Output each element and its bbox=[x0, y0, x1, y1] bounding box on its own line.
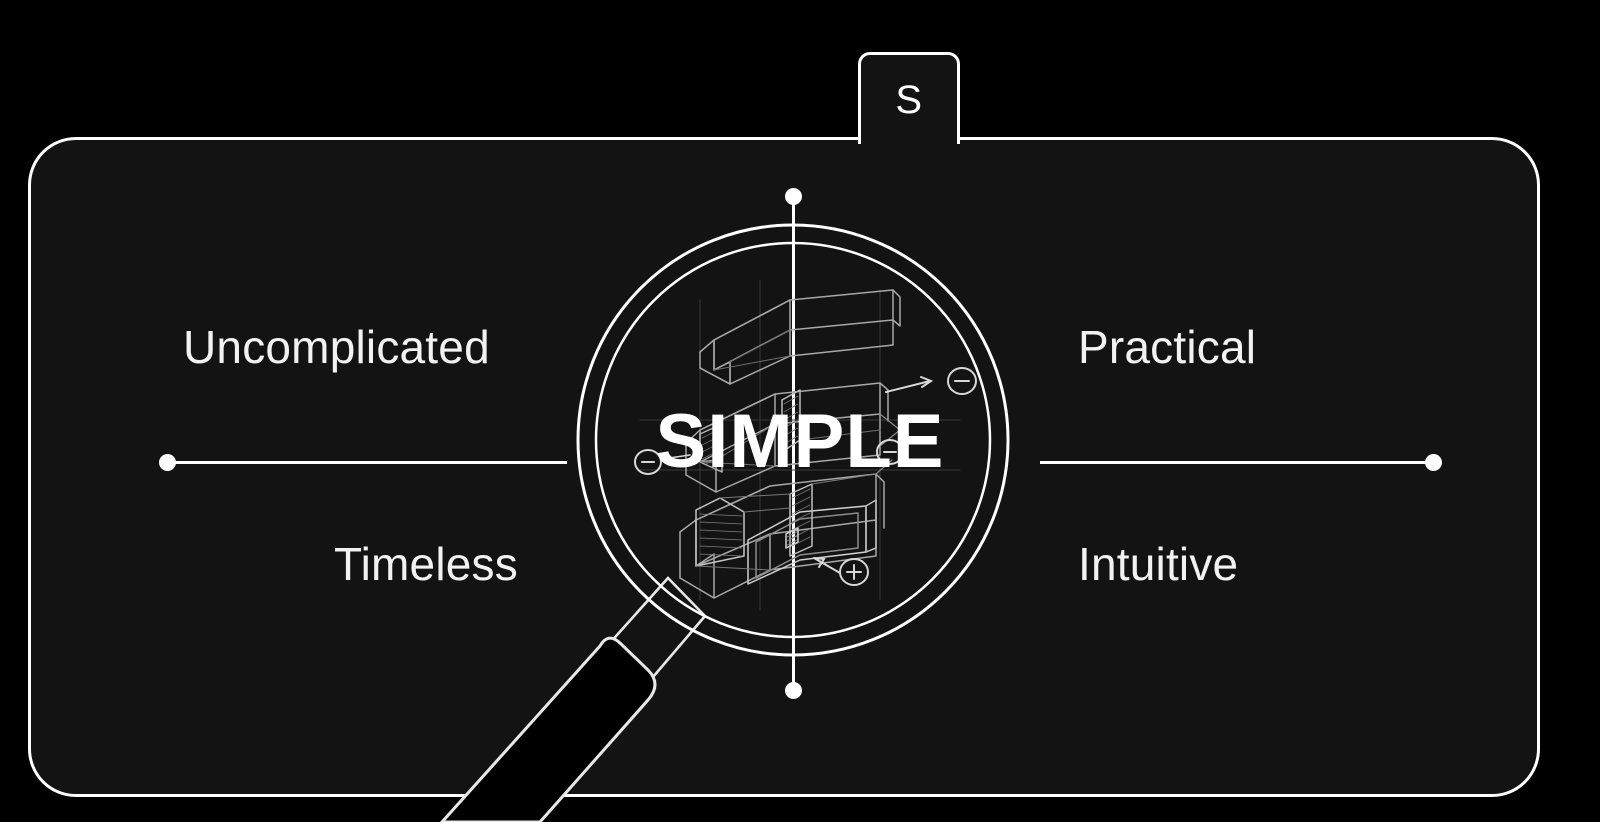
label-intuitive: Intuitive bbox=[1078, 537, 1238, 591]
label-uncomplicated: Uncomplicated bbox=[183, 320, 490, 374]
label-practical: Practical bbox=[1078, 320, 1256, 374]
axis-dot-top bbox=[785, 188, 802, 205]
axis-dot-bottom bbox=[785, 682, 802, 699]
tab-letter: S bbox=[895, 80, 922, 120]
center-word: SIMPLE bbox=[0, 404, 1600, 480]
screenshot-root: S bbox=[0, 0, 1600, 822]
tab-card-seam bbox=[861, 131, 957, 143]
label-timeless: Timeless bbox=[334, 537, 518, 591]
